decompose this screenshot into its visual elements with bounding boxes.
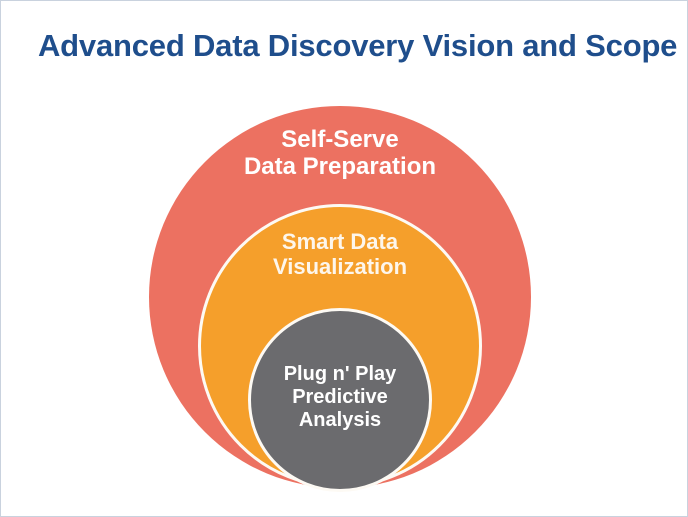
slide-canvas: Advanced Data Discovery Vision and Scope… [0, 0, 688, 517]
circle-layer-middle-label: Smart Data Visualization [273, 229, 407, 279]
circle-layer-inner-label: Plug n' Play Predictive Analysis [284, 363, 397, 431]
nested-circles-diagram: Self-Serve Data Preparation Smart Data V… [1, 1, 688, 517]
circle-layer-inner[interactable]: Plug n' Play Predictive Analysis [248, 308, 432, 492]
circle-layer-outer-label: Self-Serve Data Preparation [244, 126, 436, 181]
